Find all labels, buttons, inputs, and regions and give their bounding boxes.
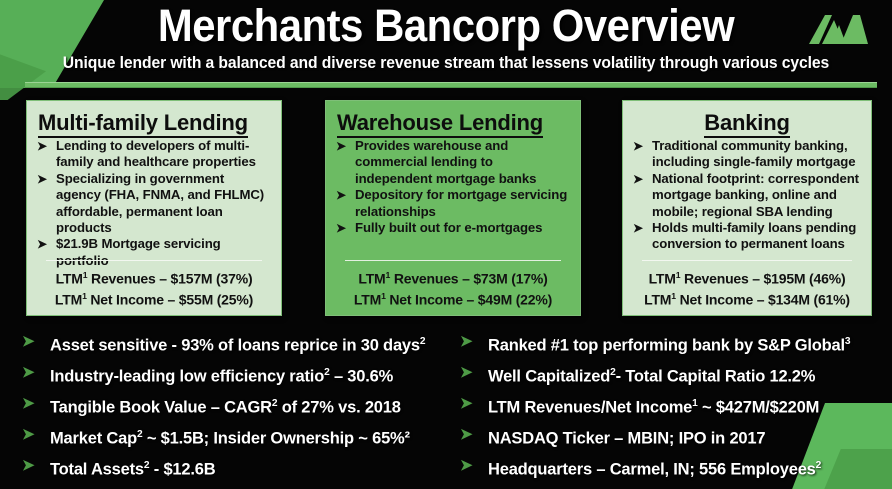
stat-value: Revenues – $73M (17%) [390, 270, 547, 286]
arrow-bullet-icon: ➤ [22, 326, 34, 357]
list-item: ➤Fully built out for e-mortgages [335, 220, 571, 236]
stat-value: Net Income – $49M (22%) [386, 292, 552, 308]
list-item: ➤National footprint: correspondent mortg… [632, 171, 862, 220]
header-divider-rule [25, 82, 877, 88]
list-item-text: Headquarters – Carmel, IN; 556 Employees [488, 461, 816, 479]
arrow-bullet-icon: ➤ [336, 187, 346, 203]
arrow-bullet-icon: ➤ [22, 450, 34, 481]
stat-value: Net Income – $55M (25%) [87, 292, 253, 308]
panel-footer: LTM1 Revenues – $195M (46%) LTM1 Net Inc… [632, 253, 862, 309]
panel-footer: LTM1 Revenues – $73M (17%) LTM1 Net Inco… [335, 253, 571, 309]
list-item-text: Total Assets [50, 461, 144, 479]
list-item-text: Depository for mortgage servicing relati… [355, 187, 567, 218]
arrow-bullet-icon: ➤ [633, 171, 643, 187]
stat-label: LTM [55, 292, 82, 308]
list-item: ➤Headquarters – Carmel, IN; 556 Employee… [452, 450, 888, 481]
panel-title-text: Banking [704, 110, 789, 138]
page-subtitle: Unique lender with a balanced and divers… [22, 54, 869, 73]
arrow-bullet-icon: ➤ [336, 220, 346, 236]
list-item-text: Asset sensitive - 93% of loans reprice i… [50, 337, 420, 355]
list-item-text: Traditional community banking, including… [652, 138, 855, 169]
list-item: ➤Industry-leading low efficiency ratio2 … [14, 357, 454, 388]
arrow-bullet-icon: ➤ [460, 419, 472, 450]
list-item-text-post: of 27% vs. 2018 [277, 399, 400, 417]
panel-title: Banking [632, 109, 862, 136]
arrow-bullet-icon: ➤ [460, 388, 472, 419]
arrow-bullet-icon: ➤ [22, 419, 34, 450]
list-item: ➤Holds multi-family loans pending conver… [632, 220, 862, 253]
stat-label: LTM [644, 292, 671, 308]
arrow-bullet-icon: ➤ [336, 138, 346, 154]
list-item-text: NASDAQ Ticker – MBIN; IPO in 2017 [488, 430, 765, 448]
list-item-text-post: - Total Capital Ratio 12.2% [616, 368, 816, 386]
stat-label: LTM [649, 270, 676, 286]
panel-stat-line: LTM1 Net Income – $49M (22%) [335, 287, 571, 309]
arrow-bullet-icon: ➤ [460, 357, 472, 388]
list-item-text: Lending to developers of multi-family an… [56, 138, 256, 169]
arrow-bullet-icon: ➤ [22, 357, 34, 388]
arrow-bullet-icon: ➤ [22, 388, 34, 419]
panel-multi-family-lending: Multi-family Lending ➤Lending to develop… [26, 100, 282, 316]
stat-value: Revenues – $195M (46%) [680, 270, 845, 286]
list-item-text: Fully built out for e-mortgages [355, 220, 542, 235]
panel-warehouse-lending: Warehouse Lending ➤Provides warehouse an… [325, 100, 581, 316]
list-item-text: Tangible Book Value – CAGR [50, 399, 272, 417]
stat-label: LTM [358, 270, 385, 286]
list-item-text: Industry-leading low efficiency ratio [50, 368, 324, 386]
list-item-text: Provides warehouse and commercial lendin… [355, 138, 536, 186]
list-item: ➤Traditional community banking, includin… [632, 138, 862, 171]
list-item-text: Holds multi-family loans pending convers… [652, 220, 856, 251]
stat-value: Revenues – $157M (37%) [87, 270, 252, 286]
list-item: ➤Tangible Book Value – CAGR2 of 27% vs. … [14, 388, 454, 419]
highlights-section: ➤Asset sensitive - 93% of loans reprice … [0, 326, 892, 489]
footnote-marker: 2 [420, 336, 425, 347]
page-title: Merchants Bancorp Overview [31, 0, 861, 52]
list-item-text: National footprint: correspondent mortga… [652, 171, 859, 219]
stat-value: Net Income – $134M (61%) [676, 292, 850, 308]
list-item: ➤Lending to developers of multi-family a… [36, 138, 272, 171]
merchants-mountain-logo-icon [808, 12, 870, 46]
panel-stat-line: LTM1 Net Income – $134M (61%) [632, 287, 862, 309]
panel-divider [46, 260, 262, 261]
highlights-column-right: ➤Ranked #1 top performing bank by S&P Gl… [452, 326, 888, 481]
arrow-bullet-icon: ➤ [460, 450, 472, 481]
list-item-text-post: - $12.6B [149, 461, 215, 479]
panel-title: Multi-family Lending [36, 109, 272, 136]
list-item: ➤Provides warehouse and commercial lendi… [335, 138, 571, 187]
list-item: ➤Specializing in government agency (FHA,… [36, 171, 272, 237]
panel-title-text: Warehouse Lending [337, 110, 543, 138]
list-item: ➤Asset sensitive - 93% of loans reprice … [14, 326, 454, 357]
stat-label: LTM [56, 270, 83, 286]
panel-bullet-list: ➤Provides warehouse and commercial lendi… [335, 138, 571, 236]
segment-panels: Multi-family Lending ➤Lending to develop… [0, 100, 892, 318]
list-item-text: Specializing in government agency (FHA, … [56, 171, 264, 235]
panel-title-text: Multi-family Lending [38, 110, 248, 138]
highlights-column-left: ➤Asset sensitive - 93% of loans reprice … [14, 326, 454, 481]
panel-stat-line: LTM1 Net Income – $55M (25%) [36, 287, 272, 309]
arrow-bullet-icon: ➤ [37, 138, 47, 154]
list-item-text: Ranked #1 top performing bank by S&P Glo… [488, 337, 845, 355]
arrow-bullet-icon: ➤ [37, 171, 47, 187]
footnote-marker: 3 [845, 336, 850, 347]
panel-bullet-list: ➤Traditional community banking, includin… [632, 138, 862, 253]
panel-bullet-list: ➤Lending to developers of multi-family a… [36, 138, 272, 269]
panel-stat-line: LTM1 Revenues – $157M (37%) [36, 266, 272, 288]
list-item-text-post: ~ $427M/$220M [698, 399, 820, 417]
panel-title: Warehouse Lending [335, 109, 571, 136]
list-item-text: Market Cap [50, 430, 137, 448]
arrow-bullet-icon: ➤ [633, 220, 643, 236]
arrow-bullet-icon: ➤ [633, 138, 643, 154]
panel-stat-line: LTM1 Revenues – $195M (46%) [632, 266, 862, 288]
arrow-bullet-icon: ➤ [460, 326, 472, 357]
panel-footer: LTM1 Revenues – $157M (37%) LTM1 Net Inc… [36, 253, 272, 309]
list-item: ➤Total Assets2 - $12.6B [14, 450, 454, 481]
list-item: ➤Depository for mortgage servicing relat… [335, 187, 571, 220]
list-item: ➤LTM Revenues/Net Income1 ~ $427M/$220M [452, 388, 888, 419]
panel-divider [345, 260, 561, 261]
list-item-text: Well Capitalized [488, 368, 610, 386]
footnote-marker: 2 [816, 460, 821, 471]
list-item-text-post: – 30.6% [330, 368, 394, 386]
list-item-text-post: ~ $1.5B; Insider Ownership ~ 65%² [142, 430, 409, 448]
stat-label: LTM [354, 292, 381, 308]
list-item-text: LTM Revenues/Net Income [488, 399, 692, 417]
list-item: ➤NASDAQ Ticker – MBIN; IPO in 2017 [452, 419, 888, 450]
panel-banking: Banking ➤Traditional community banking, … [622, 100, 872, 316]
list-item: ➤Ranked #1 top performing bank by S&P Gl… [452, 326, 888, 357]
arrow-bullet-icon: ➤ [37, 236, 47, 252]
panel-stat-line: LTM1 Revenues – $73M (17%) [335, 266, 571, 288]
list-item: ➤Well Capitalized2- Total Capital Ratio … [452, 357, 888, 388]
slide-root: Merchants Bancorp Overview Unique lender… [0, 0, 892, 489]
panel-divider [642, 260, 852, 261]
list-item: ➤Market Cap2 ~ $1.5B; Insider Ownership … [14, 419, 454, 450]
